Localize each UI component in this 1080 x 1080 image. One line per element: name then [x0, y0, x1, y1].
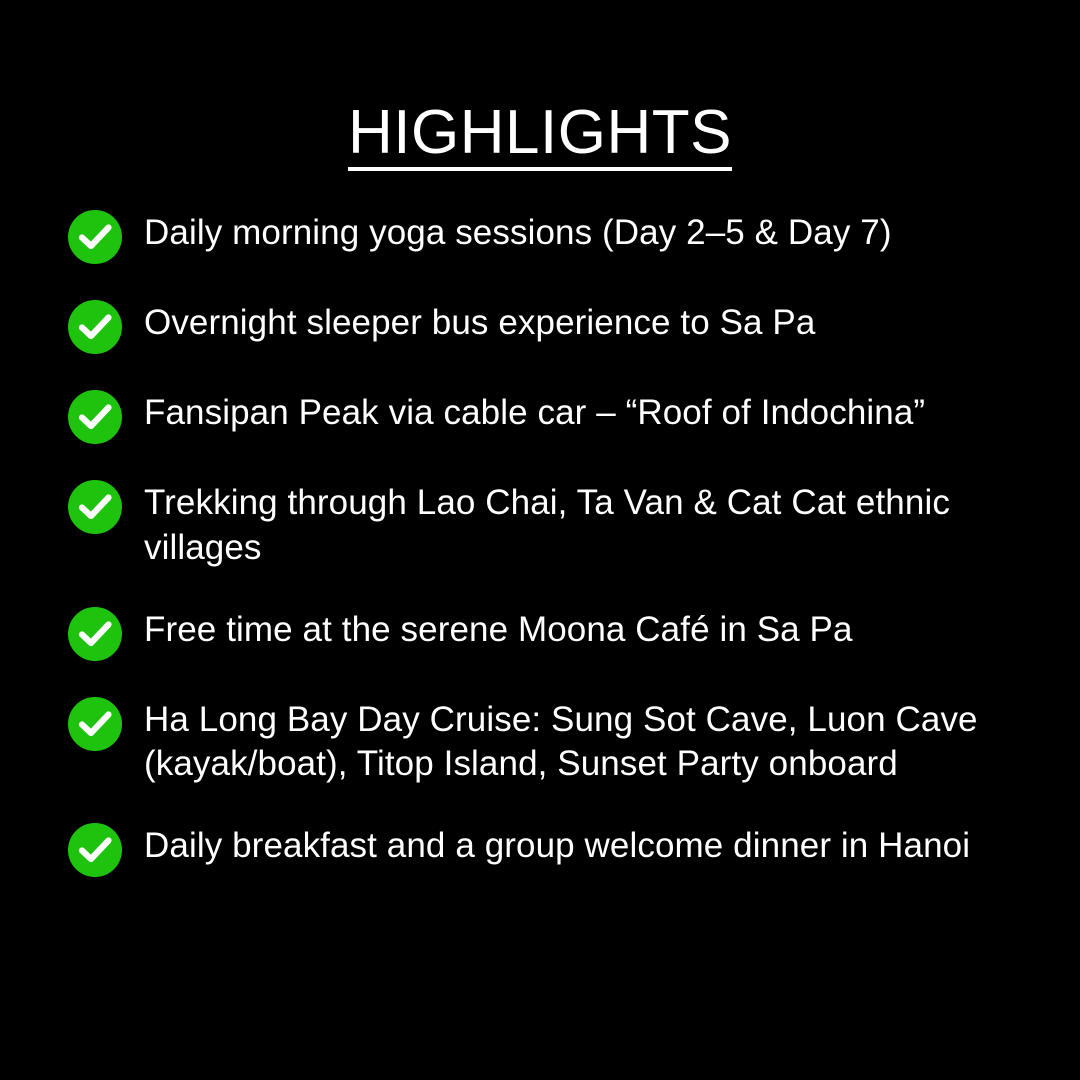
check-circle-icon: [68, 697, 122, 751]
list-item-label: Daily morning yoga sessions (Day 2–5 & D…: [122, 209, 1048, 256]
page-title: HIGHLIGHTS: [0, 100, 1080, 171]
list-item-label: Fansipan Peak via cable car – “Roof of I…: [122, 389, 1048, 436]
list-item-label: Daily breakfast and a group welcome dinn…: [122, 822, 1048, 869]
check-circle-icon: [68, 480, 122, 534]
list-item: Ha Long Bay Day Cruise: Sung Sot Cave, L…: [68, 696, 1048, 788]
list-item-label: Free time at the serene Moona Café in Sa…: [122, 606, 1048, 653]
list-item-label: Trekking through Lao Chai, Ta Van & Cat …: [122, 479, 1048, 571]
list-item: Trekking through Lao Chai, Ta Van & Cat …: [68, 479, 1048, 571]
page-title-text-wrap: HIGHLIGHTS: [348, 100, 732, 171]
check-circle-icon: [68, 300, 122, 354]
list-item: Daily breakfast and a group welcome dinn…: [68, 822, 1048, 877]
list-item: Overnight sleeper bus experience to Sa P…: [68, 299, 1048, 354]
check-circle-icon: [68, 607, 122, 661]
list-item-label: Overnight sleeper bus experience to Sa P…: [122, 299, 1048, 346]
list-item-label: Ha Long Bay Day Cruise: Sung Sot Cave, L…: [122, 696, 1048, 788]
check-circle-icon: [68, 823, 122, 877]
list-item: Free time at the serene Moona Café in Sa…: [68, 606, 1048, 661]
list-item: Fansipan Peak via cable car – “Roof of I…: [68, 389, 1048, 444]
list-item: Daily morning yoga sessions (Day 2–5 & D…: [68, 209, 1048, 264]
highlights-list: Daily morning yoga sessions (Day 2–5 & D…: [68, 209, 1048, 877]
highlights-slide: HIGHLIGHTS Daily morning yoga sessions (…: [0, 0, 1080, 1080]
page-title-underline: [348, 167, 732, 171]
page-title-label: HIGHLIGHTS: [348, 98, 732, 167]
check-circle-icon: [68, 390, 122, 444]
check-circle-icon: [68, 210, 122, 264]
